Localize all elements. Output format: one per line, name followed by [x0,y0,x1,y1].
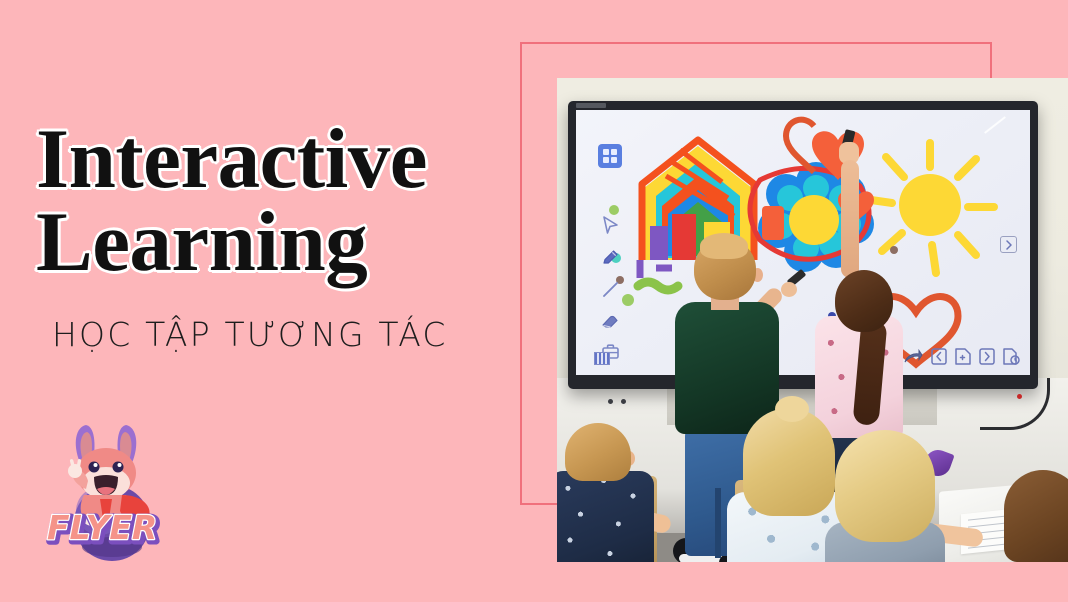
save-page-icon[interactable] [1003,348,1020,365]
raised-arm [841,160,859,278]
ponytail [775,396,809,422]
poster-canvas: Interactive Learning HỌC TẬP TƯƠNG TÁC [0,0,1068,602]
childrens-whiteboard-drawing [576,110,1030,375]
whiteboard-screen[interactable] [576,110,1030,375]
classroom-photo [557,78,1068,562]
pencil-icon[interactable] [601,248,620,267]
svg-text:FLYER: FLYER [47,508,157,547]
title-block: Interactive Learning HỌC TẬP TƯƠNG TÁC [36,118,536,354]
navy-dotted-shirt [557,471,654,562]
line-icon[interactable] [601,280,620,299]
hair [565,423,631,481]
eraser-icon[interactable] [601,312,620,330]
child-foreground-right [1004,470,1068,562]
cursor-icon[interactable] [602,216,619,235]
power-led-icon [1017,394,1022,399]
grid-apps-icon[interactable] [598,144,622,168]
blonde-girl-seated-at-desk [825,430,975,562]
jeans-seam [715,488,721,558]
interactive-whiteboard[interactable] [568,101,1038,389]
flyer-logo[interactable]: FLYER FLYER [38,415,183,565]
hair [835,430,935,542]
hand [781,282,797,297]
board-brand-label [576,103,606,108]
chevron-right-icon[interactable] [1000,236,1017,253]
chevron-right-glyph [1005,240,1013,250]
flyer-logo-graphic: FLYER FLYER [38,415,183,565]
previous-page-icon[interactable] [931,348,947,365]
hair [743,408,835,516]
next-page-icon[interactable] [979,348,995,365]
menu-icon[interactable] [601,373,620,375]
hair [700,233,748,259]
board-feet [608,391,644,396]
head [835,270,893,332]
add-page-icon[interactable] [955,348,971,365]
page-thumbnail-icon[interactable] [594,352,610,365]
page-subtitle: HỌC TẬP TƯƠNG TÁC [52,315,536,354]
page-title: Interactive Learning [36,118,536,285]
boy-in-navy-shirt-foreground-left [557,423,659,562]
